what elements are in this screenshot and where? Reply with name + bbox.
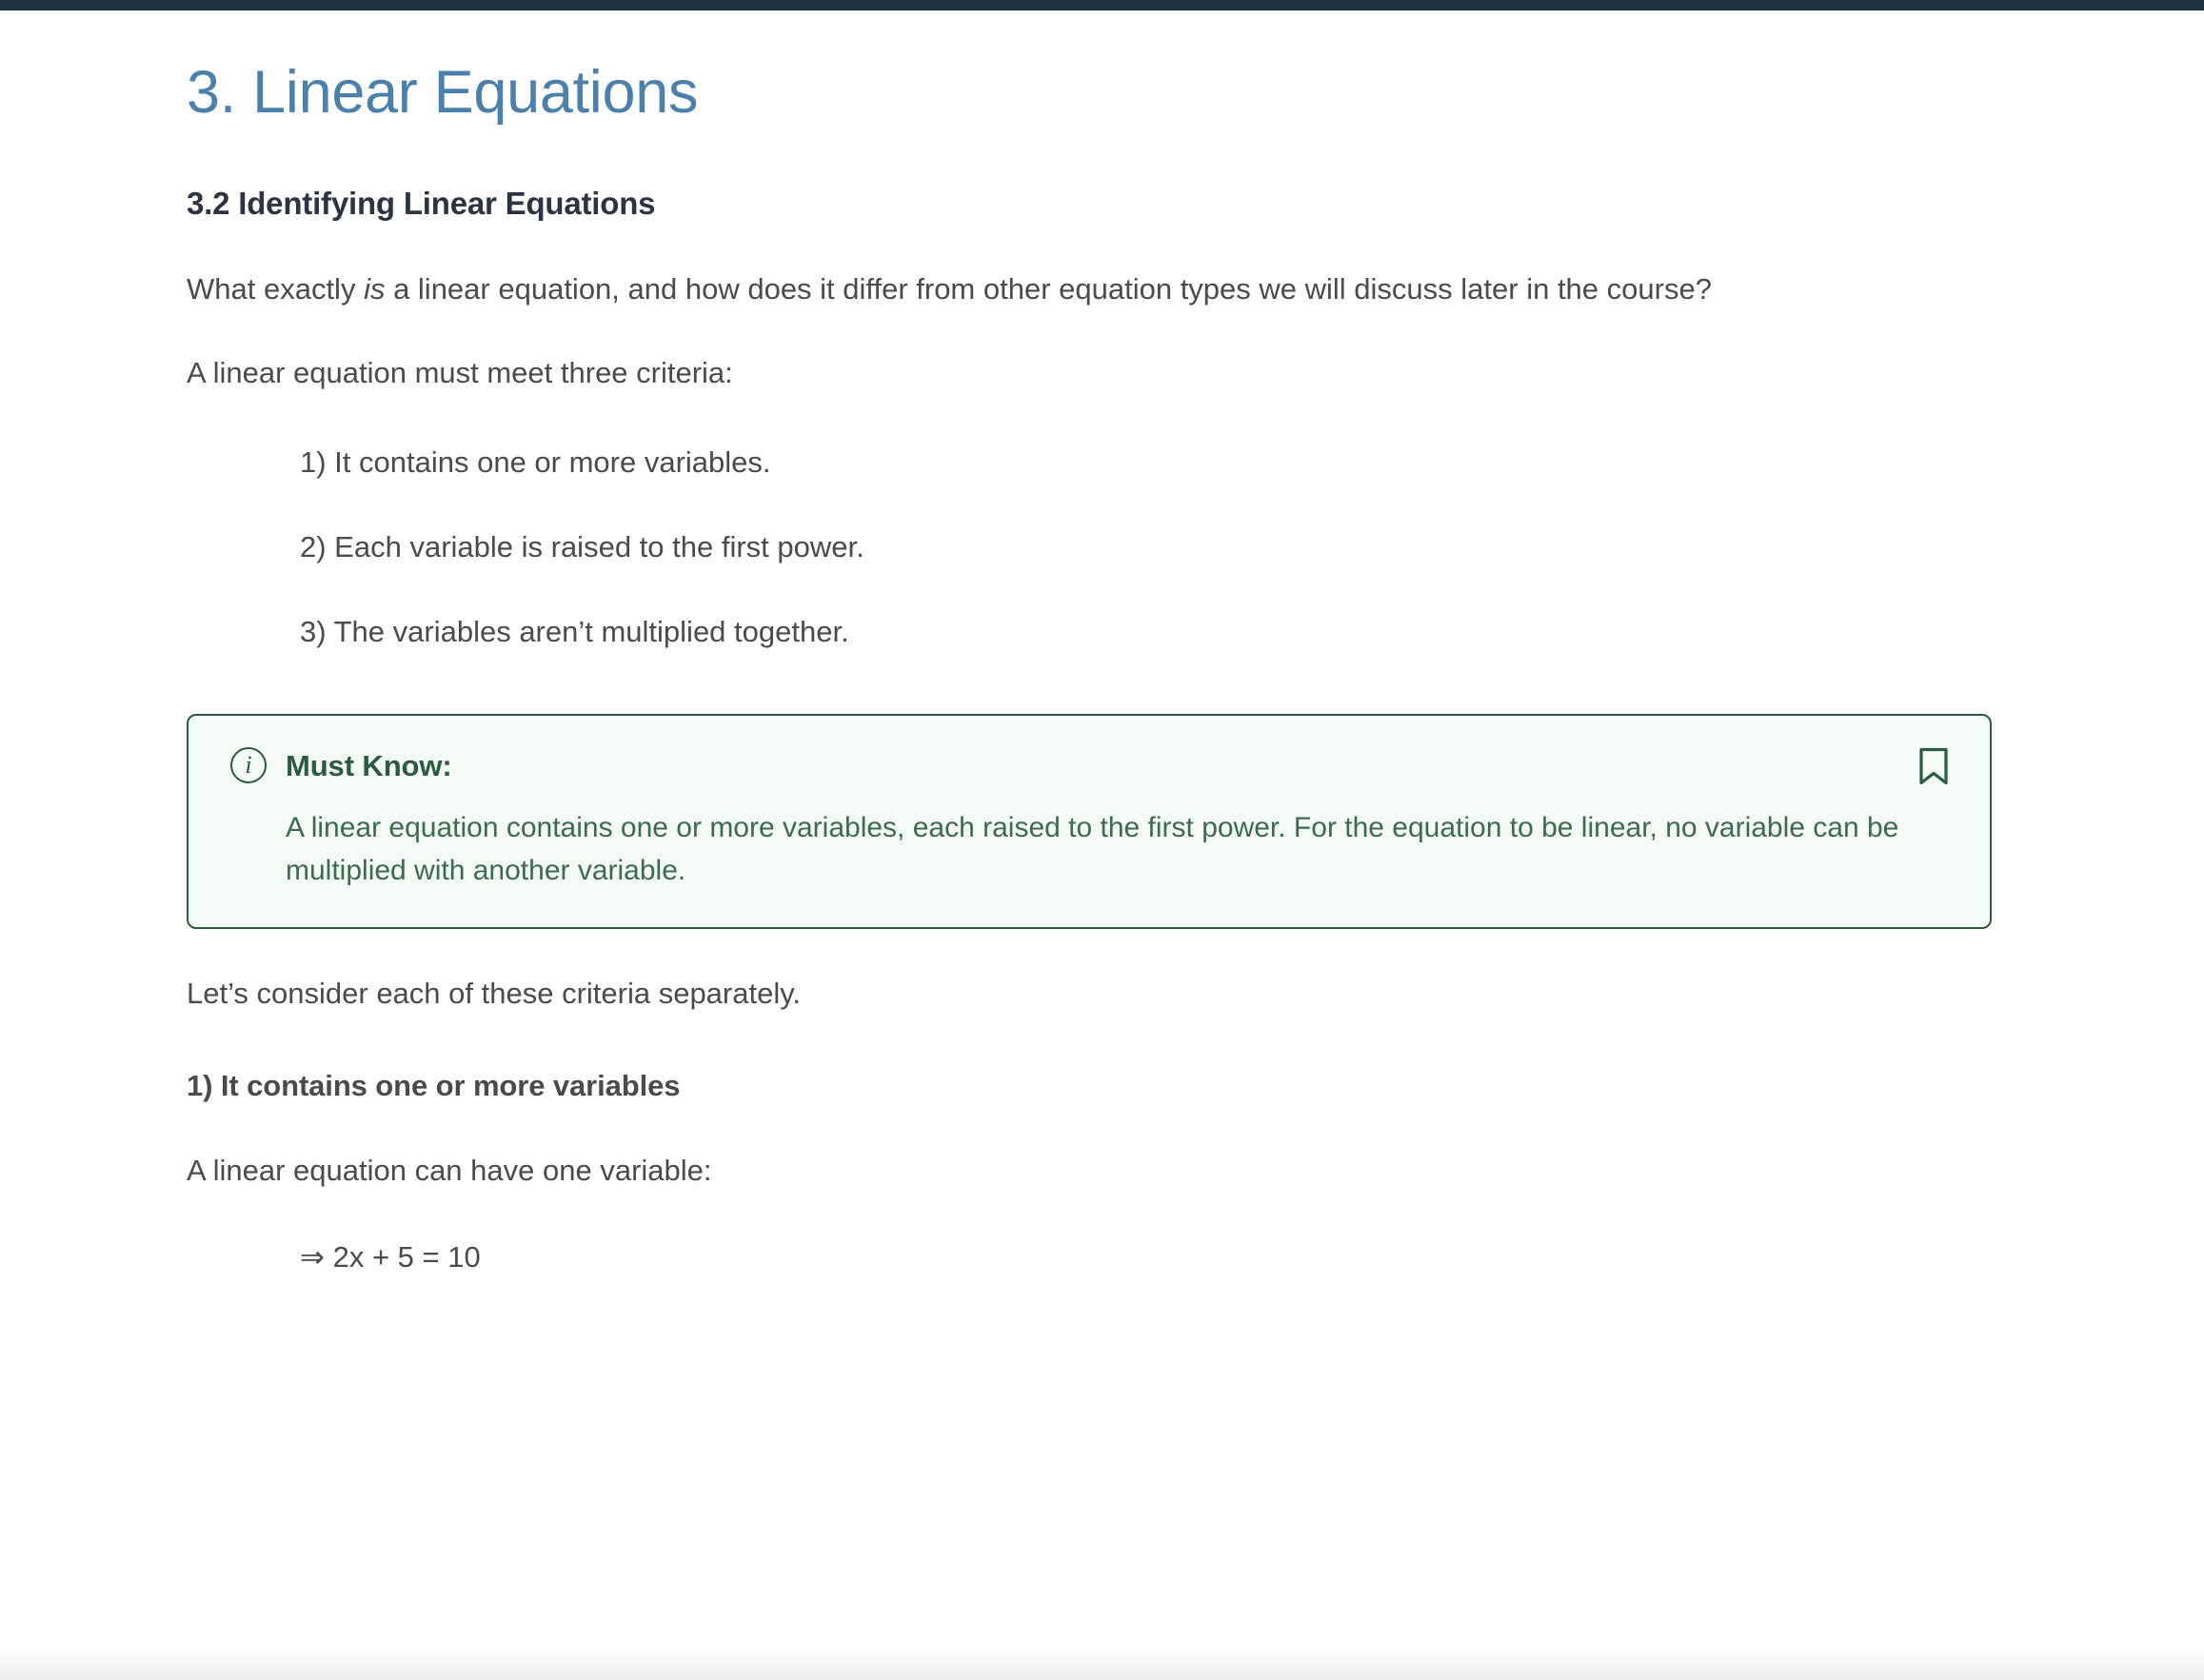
document-scroll-area[interactable]: 3. Linear Equations 3.2 Identifying Line… [0,10,2204,1680]
criterion-item-3: 3) The variables aren’t multiplied toget… [187,569,1996,654]
equation-example-one-variable: ⇒ 2x + 5 = 10 [187,1193,1996,1279]
section-heading: 3.2 Identifying Linear Equations [187,127,1996,225]
callout-header: i Must Know: [230,747,1952,783]
criterion-item-1: 1) It contains one or more variables. [187,394,1996,484]
callout-title: Must Know: [286,748,452,783]
criterion-one-heading: 1) It contains one or more variables [187,1016,1996,1106]
info-icon: i [230,747,267,783]
intro-paragraph-emphasis: is [364,272,385,306]
bookmark-icon[interactable] [1917,746,1950,786]
callout-body-text: A linear equation contains one or more v… [230,783,1906,892]
intro-paragraph-lead: What exactly [187,272,364,306]
document-content: 3. Linear Equations 3.2 Identifying Line… [187,10,1996,1279]
intro-paragraph-rest: a linear equation, and how does it diffe… [385,272,1712,306]
criterion-one-paragraph: A linear equation can have one variable: [187,1106,1996,1193]
consider-paragraph: Let’s consider each of these criteria se… [187,929,1996,1016]
criteria-intro-paragraph: A linear equation must meet three criter… [187,311,1996,395]
page-title: 3. Linear Equations [187,10,1996,127]
window-top-bar [0,0,2204,10]
criterion-item-2: 2) Each variable is raised to the first … [187,484,1996,569]
must-know-callout: i Must Know: A linear equation contains … [187,714,1992,929]
bottom-fade-overlay [0,1648,2204,1680]
intro-paragraph: What exactly is a linear equation, and h… [187,225,1996,311]
